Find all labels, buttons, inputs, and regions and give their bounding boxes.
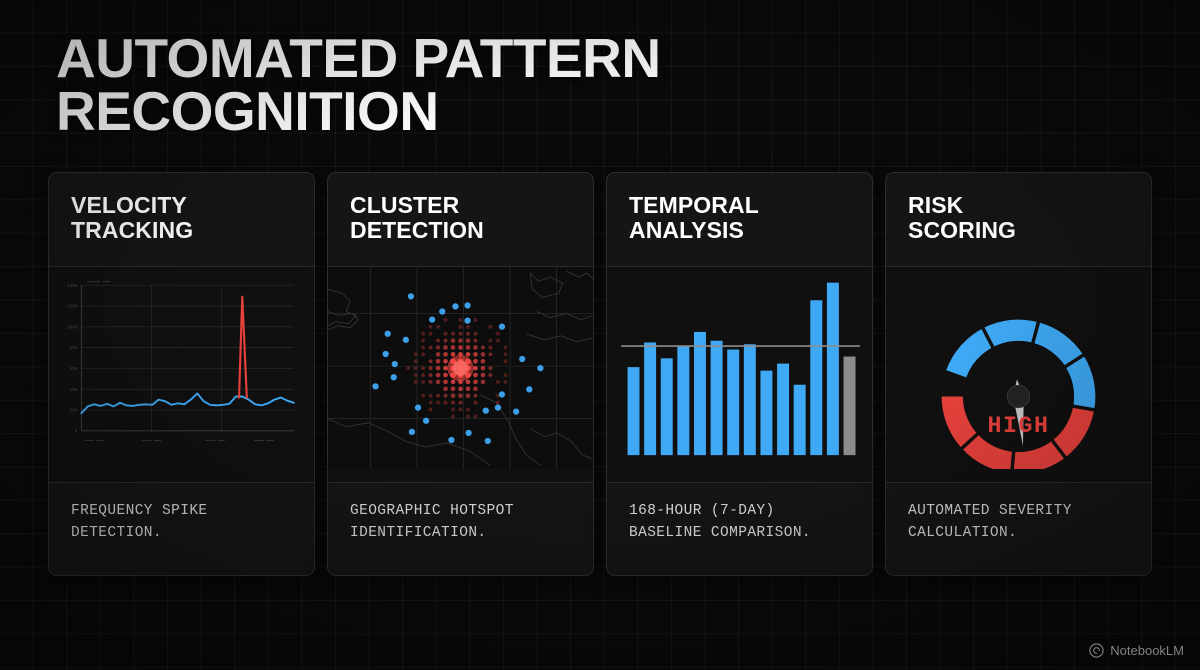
svg-text:1200: 1200 — [67, 305, 78, 310]
svg-text:▁▁▁▁ ▁▁▁: ▁▁▁▁ ▁▁▁ — [253, 438, 274, 442]
card-header: VELOCITY TRACKING — [49, 173, 314, 267]
svg-text:600: 600 — [70, 367, 78, 372]
svg-text:0: 0 — [75, 429, 78, 434]
card-header: CLUSTER DETECTION — [328, 173, 593, 267]
bar — [844, 357, 856, 456]
velocity-line-chart: 0200400600800100012001400 ▁▁▁▁ ▁▁▁▁▁▁▁ ▁… — [49, 267, 314, 469]
spiral-icon — [1089, 643, 1104, 658]
temporal-bar-chart — [607, 267, 872, 469]
bar — [777, 364, 789, 456]
bar — [711, 341, 723, 455]
bar — [644, 342, 656, 455]
card-title-line-2: TRACKING — [71, 218, 292, 243]
card-cluster-detection[interactable]: CLUSTER DETECTION — [327, 172, 594, 576]
svg-text:1000: 1000 — [67, 325, 78, 330]
cluster-scatter-map — [328, 267, 593, 469]
card-title-line-1: TEMPORAL — [629, 192, 759, 218]
svg-text:▁▁▁▁ ▁▁▁: ▁▁▁▁ ▁▁▁ — [83, 438, 104, 442]
svg-text:▁▁▁▁ ▁▁▁: ▁▁▁▁ ▁▁▁ — [141, 438, 162, 442]
card-velocity-tracking[interactable]: VELOCITY TRACKING 0200400600800100012001… — [48, 172, 315, 576]
card-caption: GEOGRAPHIC HOTSPOT IDENTIFICATION. — [328, 483, 593, 575]
gauge-reading-label: HIGH — [988, 413, 1050, 439]
svg-text:▁▁▁▁ ▁▁▁: ▁▁▁▁ ▁▁▁ — [204, 438, 225, 442]
bar — [760, 371, 772, 455]
gauge-hub — [1007, 385, 1029, 407]
card-caption: AUTOMATED SEVERITY CALCULATION. — [886, 483, 1151, 575]
slide-root: AUTOMATED PATTERN RECOGNITION VELOCITY T… — [0, 0, 1200, 670]
card-title-line-1: CLUSTER — [350, 192, 459, 218]
bar — [628, 367, 640, 455]
bar-chart-visual — [607, 267, 872, 483]
card-title-line-2: ANALYSIS — [629, 218, 850, 243]
card-title-line-2: SCORING — [908, 218, 1129, 243]
notebooklm-watermark: NotebookLM — [1089, 643, 1184, 658]
watermark-label: NotebookLM — [1110, 643, 1184, 658]
risk-gauge: HIGH — [886, 267, 1151, 469]
bar — [661, 358, 673, 455]
card-caption-text: GEOGRAPHIC HOTSPOT IDENTIFICATION. — [350, 501, 571, 545]
title-line-2: RECOGNITION — [56, 85, 816, 138]
bar — [677, 346, 689, 455]
card-header: TEMPORAL ANALYSIS — [607, 173, 872, 267]
card-caption: FREQUENCY SPIKE DETECTION. — [49, 483, 314, 575]
card-caption-text: AUTOMATED SEVERITY CALCULATION. — [908, 501, 1129, 545]
bar — [694, 332, 706, 455]
card-temporal-analysis[interactable]: TEMPORAL ANALYSIS 168-HOUR (7-DAY) BASEL… — [606, 172, 873, 576]
svg-text:200: 200 — [70, 409, 78, 414]
svg-text:400: 400 — [70, 388, 78, 393]
page-title: AUTOMATED PATTERN RECOGNITION — [56, 32, 816, 139]
cluster-map-visual — [328, 267, 593, 483]
line-chart-visual: 0200400600800100012001400 ▁▁▁▁ ▁▁▁▁▁▁▁ ▁… — [49, 267, 314, 483]
svg-text:800: 800 — [70, 346, 78, 351]
card-caption-text: 168-HOUR (7-DAY) BASELINE COMPARISON. — [629, 501, 850, 545]
card-caption-text: FREQUENCY SPIKE DETECTION. — [71, 501, 292, 545]
card-caption: 168-HOUR (7-DAY) BASELINE COMPARISON. — [607, 483, 872, 575]
chart-axis-title: ▁▁▁▁▁ ▁▁▁ — [86, 278, 110, 283]
gauge-visual: HIGH — [886, 267, 1151, 483]
card-header: RISK SCORING — [886, 173, 1151, 267]
card-grid: VELOCITY TRACKING 0200400600800100012001… — [48, 172, 1152, 576]
bar — [794, 385, 806, 455]
svg-text:1400: 1400 — [67, 284, 78, 289]
bar — [827, 283, 839, 455]
bar — [744, 344, 756, 455]
card-title-line-1: RISK — [908, 192, 963, 218]
card-title-line-2: DETECTION — [350, 218, 571, 243]
card-risk-scoring[interactable]: RISK SCORING HIGH AUTOMATED SEVERITY CAL… — [885, 172, 1152, 576]
bar — [727, 350, 739, 456]
bar — [810, 300, 822, 455]
card-title-line-1: VELOCITY — [71, 192, 187, 218]
